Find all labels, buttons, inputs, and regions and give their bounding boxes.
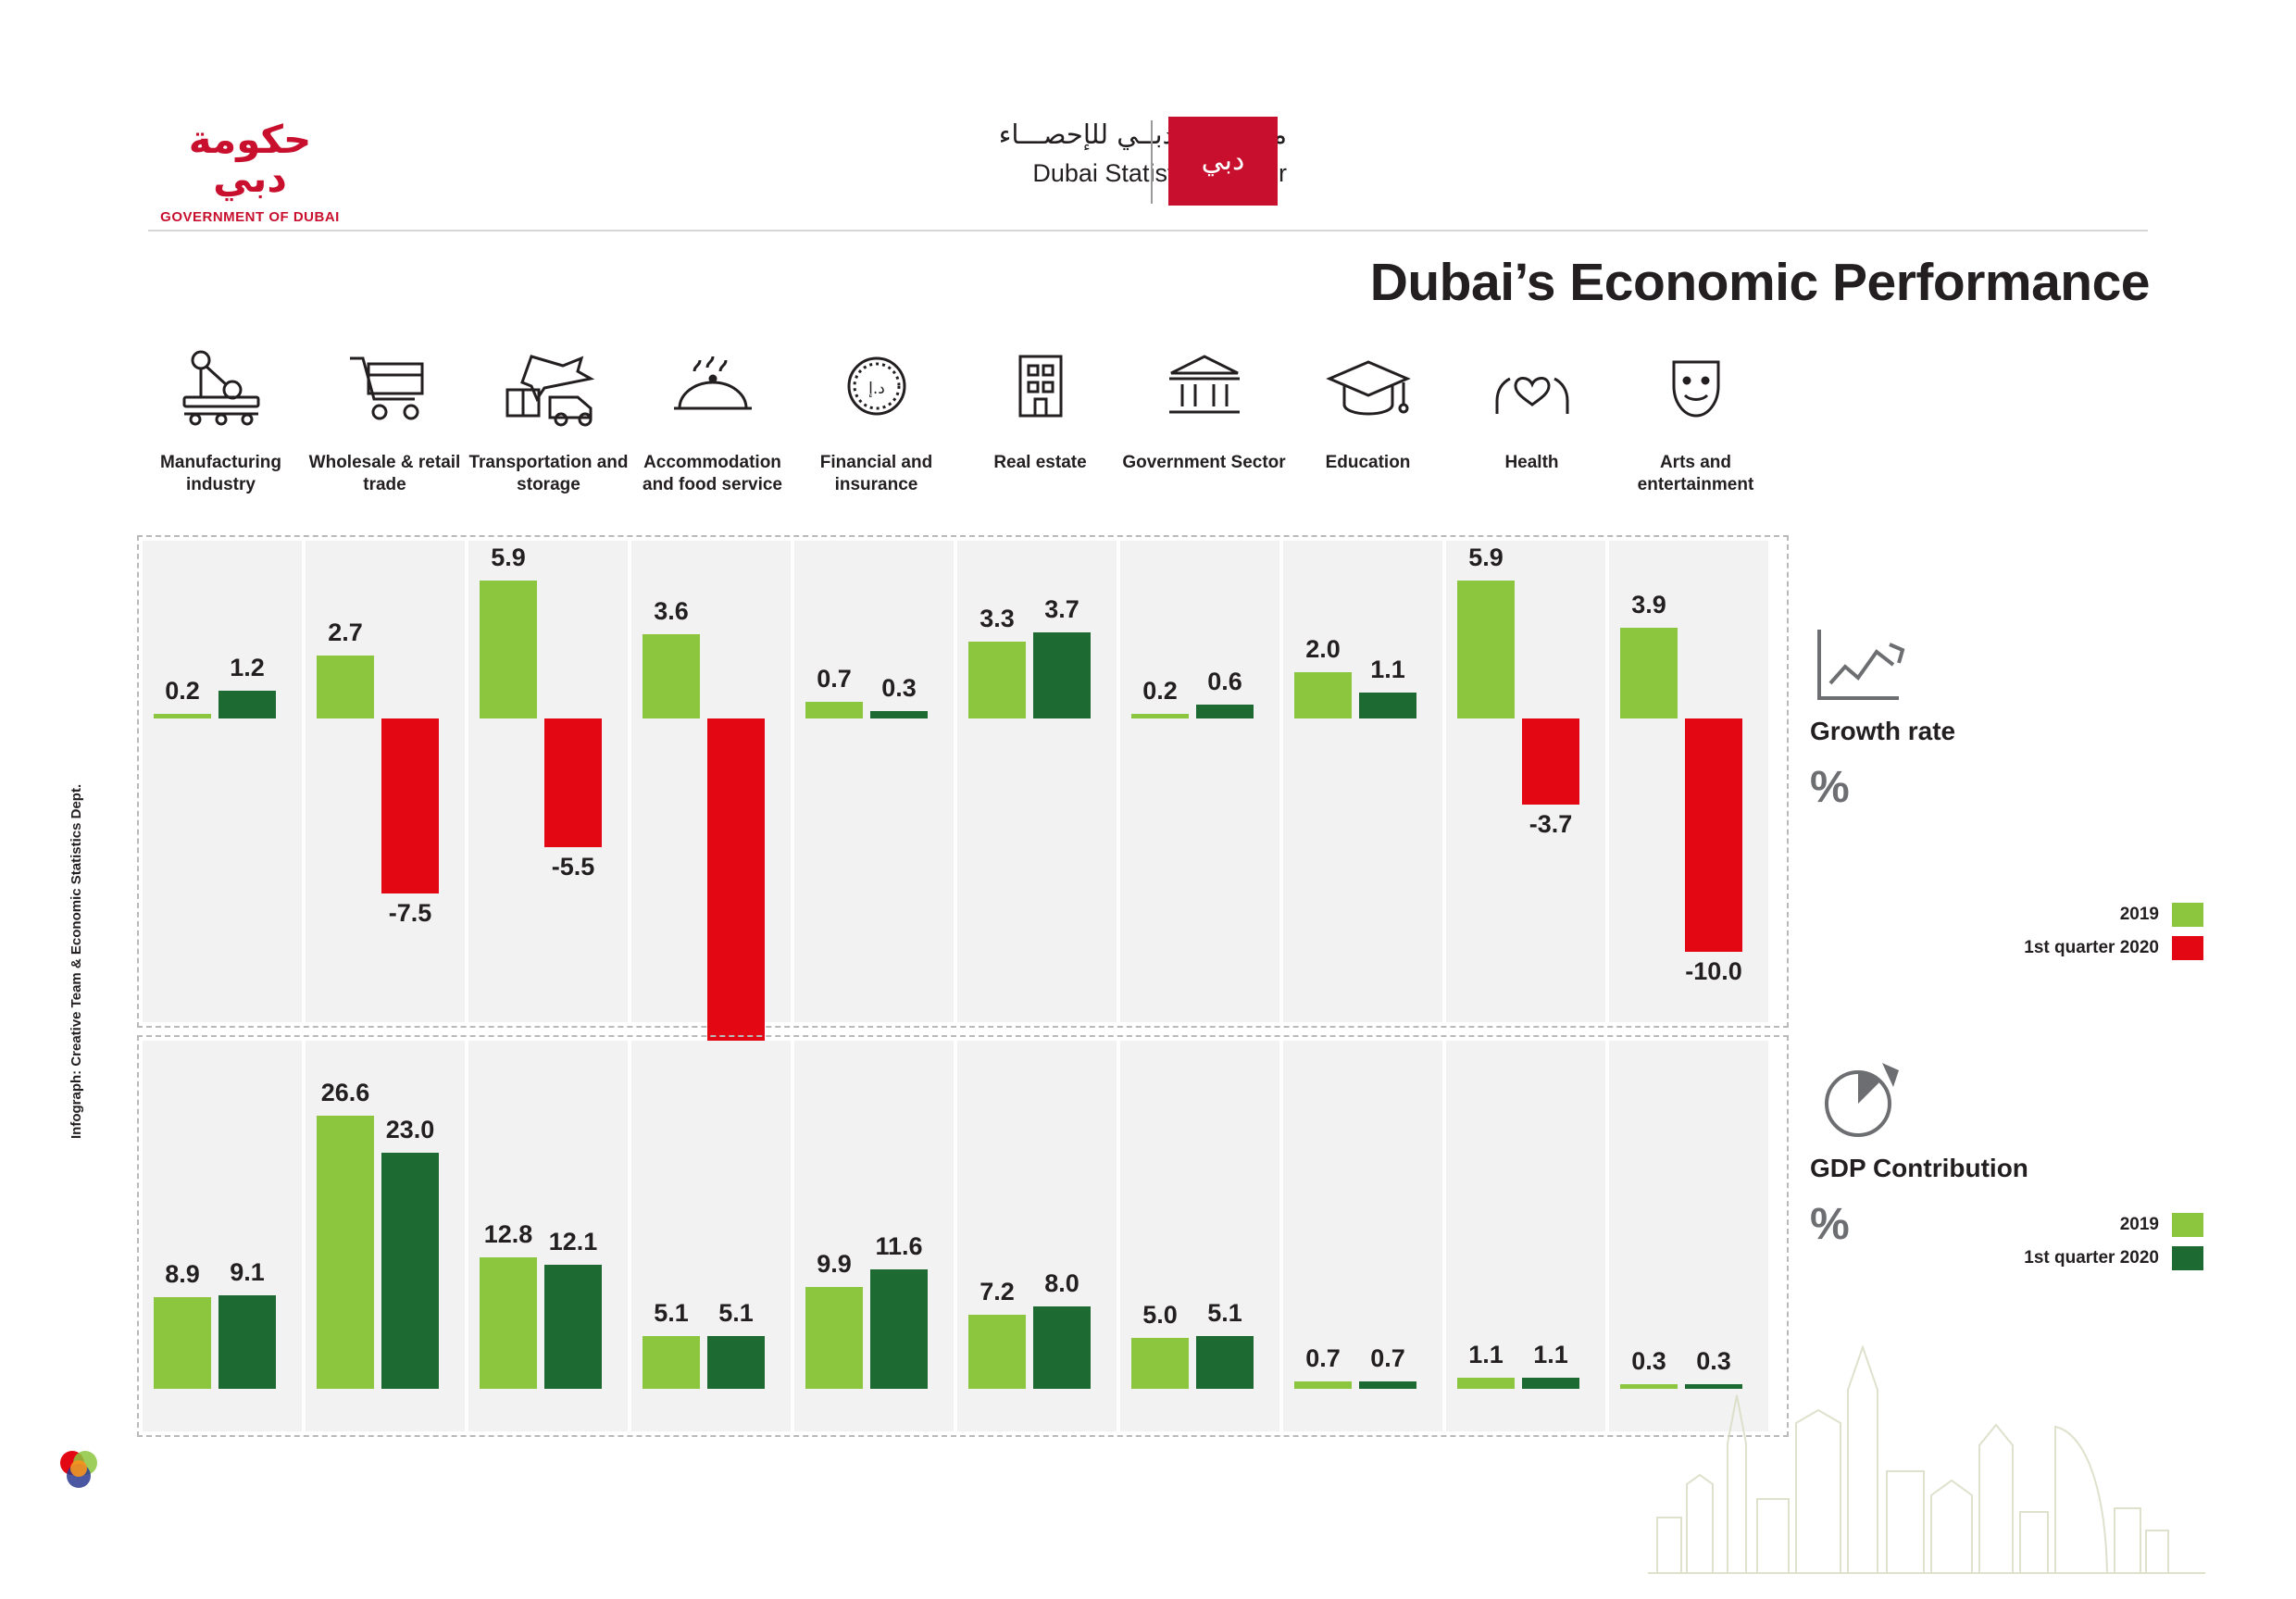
bar-value-label: -3.7 <box>1500 810 1602 839</box>
bar <box>870 711 928 718</box>
sector-label: Education <box>1286 452 1450 474</box>
dsc-emblem-arabic: دبي الإحصاء <box>1168 131 1278 191</box>
sector-transportation-and-storage: Transportation and storage <box>467 335 630 497</box>
sector-label: Transportation and storage <box>467 452 630 497</box>
bar <box>154 1297 211 1389</box>
sector-label: Health <box>1450 452 1614 474</box>
theatre-mask-icon <box>1614 335 1778 435</box>
bar <box>480 581 537 718</box>
growth-legend-unit: % <box>1810 762 2115 813</box>
bar <box>1620 628 1678 718</box>
bar <box>1131 714 1189 718</box>
gov-logo-arabic: حكومة دبي <box>148 120 352 198</box>
creative-team-logo <box>54 1444 104 1494</box>
bar <box>707 1336 765 1389</box>
legend-swatch-2019 <box>2172 1213 2203 1237</box>
sector-real-estate: Real estate <box>958 335 1122 474</box>
bar <box>1131 1338 1189 1390</box>
chart-column <box>143 541 302 1022</box>
legend-swatch-q1-2020 <box>2172 936 2203 960</box>
bar <box>1033 632 1091 718</box>
bar <box>218 1295 276 1389</box>
line-chart-arrow-icon <box>1810 618 2115 716</box>
bar <box>1294 1381 1352 1389</box>
growth-legend-title: Growth rate <box>1810 716 2115 747</box>
sector-label: Accommodation and food service <box>630 452 794 497</box>
bar <box>968 642 1026 718</box>
sector-header-row: Manufacturing industry Wholesale & retai… <box>139 335 1778 539</box>
bar-value-label: 26.6 <box>294 1079 396 1107</box>
chart-column <box>1283 541 1442 1022</box>
bar-value-label: 5.9 <box>457 543 559 572</box>
growth-rate-legend: Growth rate % <box>1810 618 2115 813</box>
legend-label: 2019 <box>2120 1215 2159 1235</box>
bar <box>805 702 863 718</box>
bar <box>1359 693 1416 718</box>
plane-truck-box-icon <box>467 335 630 435</box>
bar-value-label: 1.1 <box>1500 1341 1602 1369</box>
legend-label: 1st quarter 2020 <box>2024 1248 2159 1268</box>
bar-value-label: 9.1 <box>196 1258 298 1287</box>
bar <box>1457 1378 1515 1389</box>
building-icon <box>958 335 1122 435</box>
government-of-dubai-logo: حكومة دبي GOVERNMENT OF DUBAI <box>148 120 352 225</box>
bar-value-label: 1.1 <box>1337 656 1439 684</box>
sector-manufacturing-industry: Manufacturing industry <box>139 335 303 497</box>
dubai-skyline-illustration <box>1639 1334 2213 1575</box>
bar-value-label: 12.1 <box>522 1228 624 1256</box>
sector-label: Real estate <box>958 452 1122 474</box>
page-title: Dubai’s Economic Performance <box>1370 252 2150 313</box>
credit-text: Infograph: Creative Team & Economic Stat… <box>69 784 84 1139</box>
sector-label: Financial and insurance <box>794 452 958 497</box>
legend-label: 1st quarter 2020 <box>2024 938 2159 958</box>
bar-value-label: 2.7 <box>294 618 396 647</box>
bar-value-label: 3.6 <box>620 597 722 626</box>
bar <box>317 656 374 718</box>
bar <box>1196 1336 1254 1389</box>
legend-swatch-2019 <box>2172 903 2203 927</box>
shopping-cart-icon <box>303 335 467 435</box>
bar <box>1685 718 1742 952</box>
bar <box>1196 705 1254 718</box>
gdp-legend-keys: 2019 1st quarter 2020 <box>1759 1213 2203 1280</box>
bar-value-label: -7.5 <box>359 899 461 928</box>
chart-column <box>1120 541 1279 1022</box>
infographic-page: حكومة دبي GOVERNMENT OF DUBAI مــركــــز… <box>0 0 2296 1599</box>
legend-swatch-q1-2020 <box>2172 1246 2203 1270</box>
sector-label: Manufacturing industry <box>139 452 303 497</box>
gdp-legend-title: GDP Contribution <box>1810 1153 2125 1184</box>
legend-label: 2019 <box>2120 905 2159 925</box>
sector-label: Arts and entertainment <box>1614 452 1778 497</box>
dsc-emblem-bar-bottom <box>1168 189 1278 206</box>
header-divider <box>1151 120 1153 204</box>
svg-text:د.إ: د.إ <box>868 380 885 398</box>
bar-value-label: 0.7 <box>1337 1344 1439 1373</box>
bar <box>968 1315 1026 1389</box>
robot-arm-icon <box>139 335 303 435</box>
bar <box>707 718 765 1064</box>
bar-value-label: 23.0 <box>359 1116 461 1144</box>
bar <box>381 718 439 893</box>
bar-value-label: 8.0 <box>1011 1269 1113 1298</box>
legend-item: 1st quarter 2020 <box>1759 936 2203 960</box>
chart-column <box>1446 1041 1605 1431</box>
sector-education: Education <box>1286 335 1450 474</box>
legend-item: 2019 <box>1759 903 2203 927</box>
food-cloche-icon <box>630 335 794 435</box>
legend-item: 1st quarter 2020 <box>1759 1246 2203 1270</box>
graduation-cap-icon <box>1286 335 1450 435</box>
bar <box>480 1257 537 1389</box>
bar-value-label: -5.5 <box>522 853 624 881</box>
bar <box>1522 1378 1579 1389</box>
coin-dirham-icon: د.إ <box>794 335 958 435</box>
bar-value-label: 5.1 <box>685 1299 787 1328</box>
gdp-contribution-chart: 8.99.126.623.012.812.15.15.19.911.67.28.… <box>137 1035 1789 1437</box>
bar <box>218 691 276 718</box>
bar <box>154 714 211 718</box>
sector-arts-and-entertainment: Arts and entertainment <box>1614 335 1778 497</box>
bar-value-label: 3.9 <box>1598 591 1700 619</box>
bar <box>643 1336 700 1389</box>
bar <box>643 634 700 718</box>
bar <box>317 1116 374 1389</box>
bar-value-label: 0.3 <box>848 674 950 703</box>
growth-rate-chart: 0.21.22.7-7.55.9-5.53.6-14.80.70.33.33.7… <box>137 535 1789 1028</box>
bar-value-label: -10.0 <box>1663 957 1765 986</box>
dsc-emblem: دبي الإحصاء <box>1168 117 1278 206</box>
sector-label: Government Sector <box>1122 452 1286 474</box>
bar <box>870 1269 928 1389</box>
bank-columns-icon <box>1122 335 1286 435</box>
sector-wholesale-retail-trade: Wholesale & retail trade <box>303 335 467 497</box>
bar-value-label: 11.6 <box>848 1232 950 1261</box>
bar-value-label: 1.2 <box>196 654 298 682</box>
bar <box>544 718 602 847</box>
bar-value-label: 0.6 <box>1174 668 1276 696</box>
pie-chart-icon <box>1810 1046 2125 1153</box>
sector-accommodation-and-food-service: Accommodation and food service <box>630 335 794 497</box>
bar <box>381 1153 439 1389</box>
bar <box>1457 581 1515 718</box>
bar-value-label: 3.7 <box>1011 595 1113 624</box>
bar <box>1033 1306 1091 1389</box>
sector-health: Health <box>1450 335 1614 474</box>
chart-column <box>794 541 954 1022</box>
bar-value-label: 5.9 <box>1435 543 1537 572</box>
bar <box>1359 1381 1416 1389</box>
legend-item: 2019 <box>1759 1213 2203 1237</box>
header-rule <box>148 230 2148 231</box>
sector-financial-and-insurance: د.إ Financial and insurance <box>794 335 958 497</box>
bar <box>805 1287 863 1389</box>
growth-legend-keys: 2019 1st quarter 2020 <box>1759 903 2203 969</box>
sector-government-sector: Government Sector <box>1122 335 1286 474</box>
heart-hands-icon <box>1450 335 1614 435</box>
gov-logo-english: GOVERNMENT OF DUBAI <box>148 209 352 225</box>
bar <box>544 1265 602 1389</box>
bar-value-label: 5.1 <box>1174 1299 1276 1328</box>
header: حكومة دبي GOVERNMENT OF DUBAI مــركــــز… <box>0 0 2296 241</box>
bar <box>1522 718 1579 805</box>
sector-label: Wholesale & retail trade <box>303 452 467 497</box>
